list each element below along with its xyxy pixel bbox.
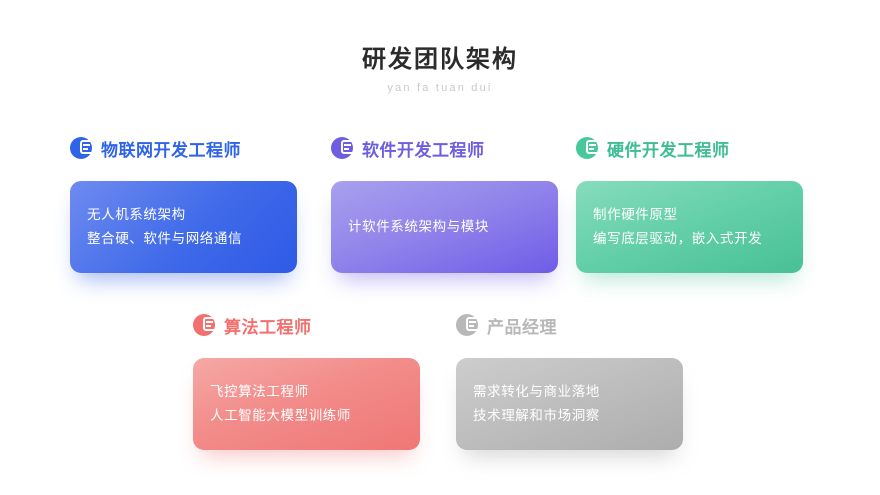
- page-title: 研发团队架构: [0, 46, 880, 75]
- role-card[interactable]: 计软件系统架构与模块: [331, 181, 558, 273]
- role-header: 硬件开发工程师: [576, 133, 803, 163]
- role-column-software-engineer: 软件开发工程师 计软件系统架构与模块: [331, 133, 558, 273]
- role-title: 算法工程师: [224, 313, 312, 338]
- role-column-iot-engineer: 物联网开发工程师 无人机系统架构 整合硬、软件与网络通信: [70, 133, 297, 273]
- title-block: 研发团队架构 yan fa tuan dui: [0, 46, 880, 94]
- role-row-2: 算法工程师 飞控算法工程师 人工智能大模型训练师 产品经理 需求转化与商业落地 …: [0, 310, 880, 470]
- role-title: 产品经理: [487, 313, 557, 338]
- role-card-line: 需求转化与商业落地: [473, 380, 666, 404]
- role-row-1: 物联网开发工程师 无人机系统架构 整合硬、软件与网络通信 软件开发工程师 计软件…: [0, 133, 880, 293]
- role-column-algorithm-engineer: 算法工程师 飞控算法工程师 人工智能大模型训练师: [193, 310, 420, 450]
- team-role-icon: [70, 137, 92, 159]
- role-header: 产品经理: [456, 310, 683, 340]
- role-card[interactable]: 需求转化与商业落地 技术理解和市场洞察: [456, 358, 683, 450]
- role-column-product-manager: 产品经理 需求转化与商业落地 技术理解和市场洞察: [456, 310, 683, 450]
- role-card[interactable]: 制作硬件原型 编写底层驱动，嵌入式开发: [576, 181, 803, 273]
- role-card-line: 飞控算法工程师: [210, 380, 403, 404]
- role-column-hardware-engineer: 硬件开发工程师 制作硬件原型 编写底层驱动，嵌入式开发: [576, 133, 803, 273]
- role-title: 软件开发工程师: [362, 136, 485, 161]
- role-header: 软件开发工程师: [331, 133, 558, 163]
- role-card-line: 计软件系统架构与模块: [348, 215, 541, 239]
- role-title: 物联网开发工程师: [101, 136, 241, 161]
- page-subtitle: yan fa tuan dui: [0, 82, 880, 94]
- team-role-icon: [576, 137, 598, 159]
- role-card-line: 整合硬、软件与网络通信: [87, 227, 280, 251]
- role-card-line: 人工智能大模型训练师: [210, 404, 403, 428]
- role-card-line: 编写底层驱动，嵌入式开发: [593, 227, 786, 251]
- team-role-icon: [193, 314, 215, 336]
- role-header: 物联网开发工程师: [70, 133, 297, 163]
- team-role-icon: [331, 137, 353, 159]
- slide-canvas: 研发团队架构 yan fa tuan dui 物联网开发工程师 无人机系统架构 …: [0, 0, 880, 495]
- role-title: 硬件开发工程师: [607, 136, 730, 161]
- role-card[interactable]: 无人机系统架构 整合硬、软件与网络通信: [70, 181, 297, 273]
- role-card-line: 技术理解和市场洞察: [473, 404, 666, 428]
- role-card[interactable]: 飞控算法工程师 人工智能大模型训练师: [193, 358, 420, 450]
- role-card-line: 制作硬件原型: [593, 203, 786, 227]
- role-header: 算法工程师: [193, 310, 420, 340]
- role-card-line: 无人机系统架构: [87, 203, 280, 227]
- team-role-icon: [456, 314, 478, 336]
